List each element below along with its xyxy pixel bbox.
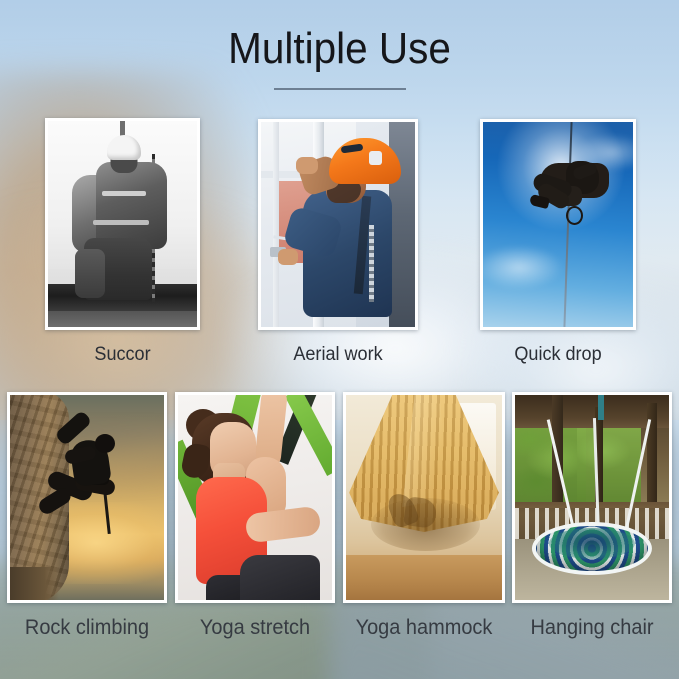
succor-harness-upper [102,191,147,196]
caption-rock-climbing: Rock climbing [6,617,168,639]
caption-succor: Succor [49,344,196,366]
caption-hanging-chair: Hanging chair [512,617,672,639]
hanging-chair-foliage-right [577,424,642,502]
hanging-chair-nest-shadow [549,528,635,559]
card-rock-climbing[interactable] [7,392,167,603]
card-yoga-hammock[interactable] [343,392,505,603]
card-yoga-stretch[interactable] [175,392,335,603]
caption-yoga-hammock: Yoga hammock [342,617,505,639]
aerial-chain [369,225,374,303]
quick-drop-descender [566,206,583,225]
poster-canvas: Multiple Use Succor [0,0,679,679]
poster-header: Multiple Use [0,24,679,90]
image-yoga-hammock [346,395,502,600]
image-yoga-stretch [178,395,332,600]
caption-aerial-work: Aerial work [262,344,414,366]
aerial-raised-hand [296,157,318,174]
rock-ledge [10,567,59,600]
image-rock-climbing [10,395,164,600]
hanging-chair-porch-ceiling [515,395,669,428]
image-hanging-chair [515,395,669,600]
succor-victim-leg [75,249,105,298]
hammock-floor [346,555,502,600]
title-divider [274,88,406,90]
card-hanging-chair[interactable] [512,392,672,603]
image-aerial-work [261,122,415,327]
succor-rail-lower [48,311,197,327]
aerial-helmet-clip [369,151,382,165]
background-forest-ridge-left [0,600,430,679]
caption-quick-drop: Quick drop [484,344,632,366]
aerial-window-frame-left [273,122,279,327]
card-aerial-work[interactable] [258,119,418,330]
image-succor [48,121,197,327]
card-quick-drop[interactable] [480,119,636,330]
succor-rescuer-body [96,162,168,249]
page-title: Multiple Use [27,24,652,74]
quick-drop-cloud-bottom [483,245,564,290]
aerial-lower-hand [278,249,298,265]
caption-yoga-stretch: Yoga stretch [176,617,334,639]
image-quick-drop [483,122,633,327]
succor-harness-lower [93,220,150,225]
card-succor[interactable] [45,118,200,330]
hanging-chair-ceiling-hanger [598,395,604,420]
rock-climber-head [95,434,115,453]
yoga-leggings [240,555,320,600]
